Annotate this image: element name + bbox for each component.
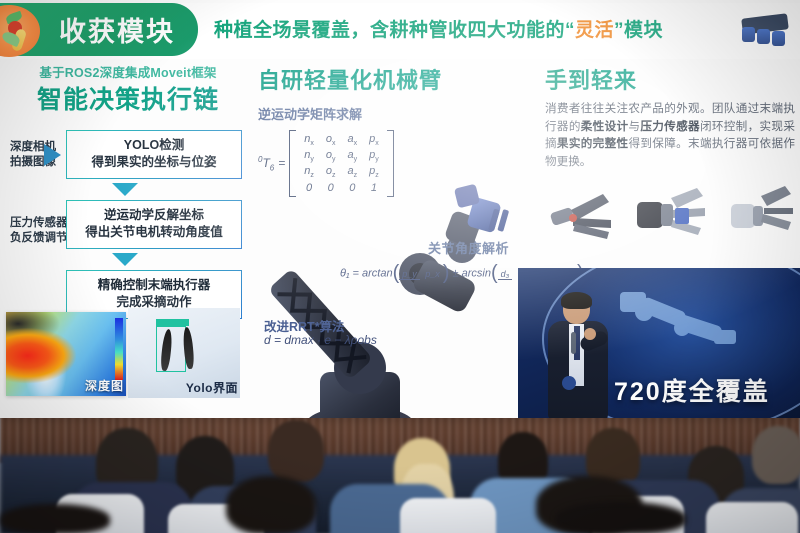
yolo-detection-tag: [156, 319, 189, 326]
blurred-conference-audience: [0, 398, 800, 533]
slide-headline: 种植全场景覆盖，含耕种管收四大功能的“灵活”模块: [214, 16, 734, 46]
right-title: 手到轻来: [545, 66, 795, 96]
gripper-three-finger-icon: [637, 188, 705, 235]
headline-highlight: 灵活: [575, 20, 614, 41]
yolo-interface-photo: Yolo界面: [128, 308, 240, 398]
fruit-basket-icon: [0, 5, 40, 57]
gripper-claw-icon: [731, 186, 793, 230]
headline-prefix: 种植全场景覆盖，含耕种管收四大功能的: [214, 20, 565, 41]
flow-arrow-right-icon: [44, 144, 61, 166]
flow-step-2: 逆运动学反解坐标 得出关节电机转动角度值: [66, 200, 242, 249]
module-badge-block: 收获模块: [0, 3, 198, 56]
module-label: 收获模块: [42, 15, 192, 49]
projection-screen: 收获模块 种植全场景覆盖，含耕种管收四大功能的“灵活”模块 基于ROS2深度集成…: [0, 0, 800, 418]
robot-arm-icon: [248, 156, 518, 418]
headline-quote-close: ”: [614, 20, 624, 41]
flow-step-1: YOLO检测 得到果实的坐标与位姿: [66, 130, 242, 179]
flow-arrow-down-icon-1: [112, 183, 138, 196]
right-panel: 手到轻来 消费者往往关注农产品的外观。团队通过末端执行器的柔性设计与压力传感器闭…: [545, 66, 795, 250]
depth-colorbar: [115, 318, 123, 380]
headline-quote-open: “: [565, 20, 575, 41]
left-panel: 基于ROS2深度集成Moveit框架 智能决策执行链 深度相机 拍摄图像 压力传…: [8, 64, 248, 304]
screenshot-root: 收获模块 种植全场景覆盖，含耕种管收四大功能的“灵活”模块 基于ROS2深度集成…: [0, 0, 800, 533]
yolo-caption: Yolo界面: [186, 379, 238, 396]
left-title: 智能决策执行链: [8, 84, 248, 116]
presentation-stage-photo: 720度全覆盖: [518, 268, 800, 418]
middle-panel: 自研轻量化机械臂 逆运动学矩阵求解 0T6 = nxoxaxpx nyoyayp…: [258, 66, 526, 366]
depth-map-caption: 深度图: [85, 377, 124, 394]
flow-arrow-down-icon-2: [112, 253, 138, 266]
gripper-gallery: [545, 180, 795, 250]
middle-title: 自研轻量化机械臂: [258, 66, 526, 96]
right-body-text: 消费者往往关注农产品的外观。团队通过末端执行器的柔性设计与压力传感器闭环控制，实…: [545, 100, 795, 170]
middle-subtitle: 逆运动学矩阵求解: [258, 104, 526, 123]
harvester-machine-icon: [736, 12, 794, 48]
rrt-equation: d = dmax · e − λρobs: [264, 333, 377, 347]
left-kicker: 基于ROS2深度集成Moveit框架: [8, 64, 248, 82]
joint-angle-label: 关节角度解析: [428, 238, 509, 257]
gripper-two-finger-icon: [550, 194, 611, 239]
stage-robot-arm-image: [614, 286, 744, 366]
headline-suffix: 模块: [624, 20, 663, 41]
decision-flow-chart: YOLO检测 得到果实的坐标与位姿 逆运动学反解坐标 得出关节电机转动角度值 精…: [8, 130, 248, 319]
depth-map-photo: 深度图: [6, 312, 126, 396]
